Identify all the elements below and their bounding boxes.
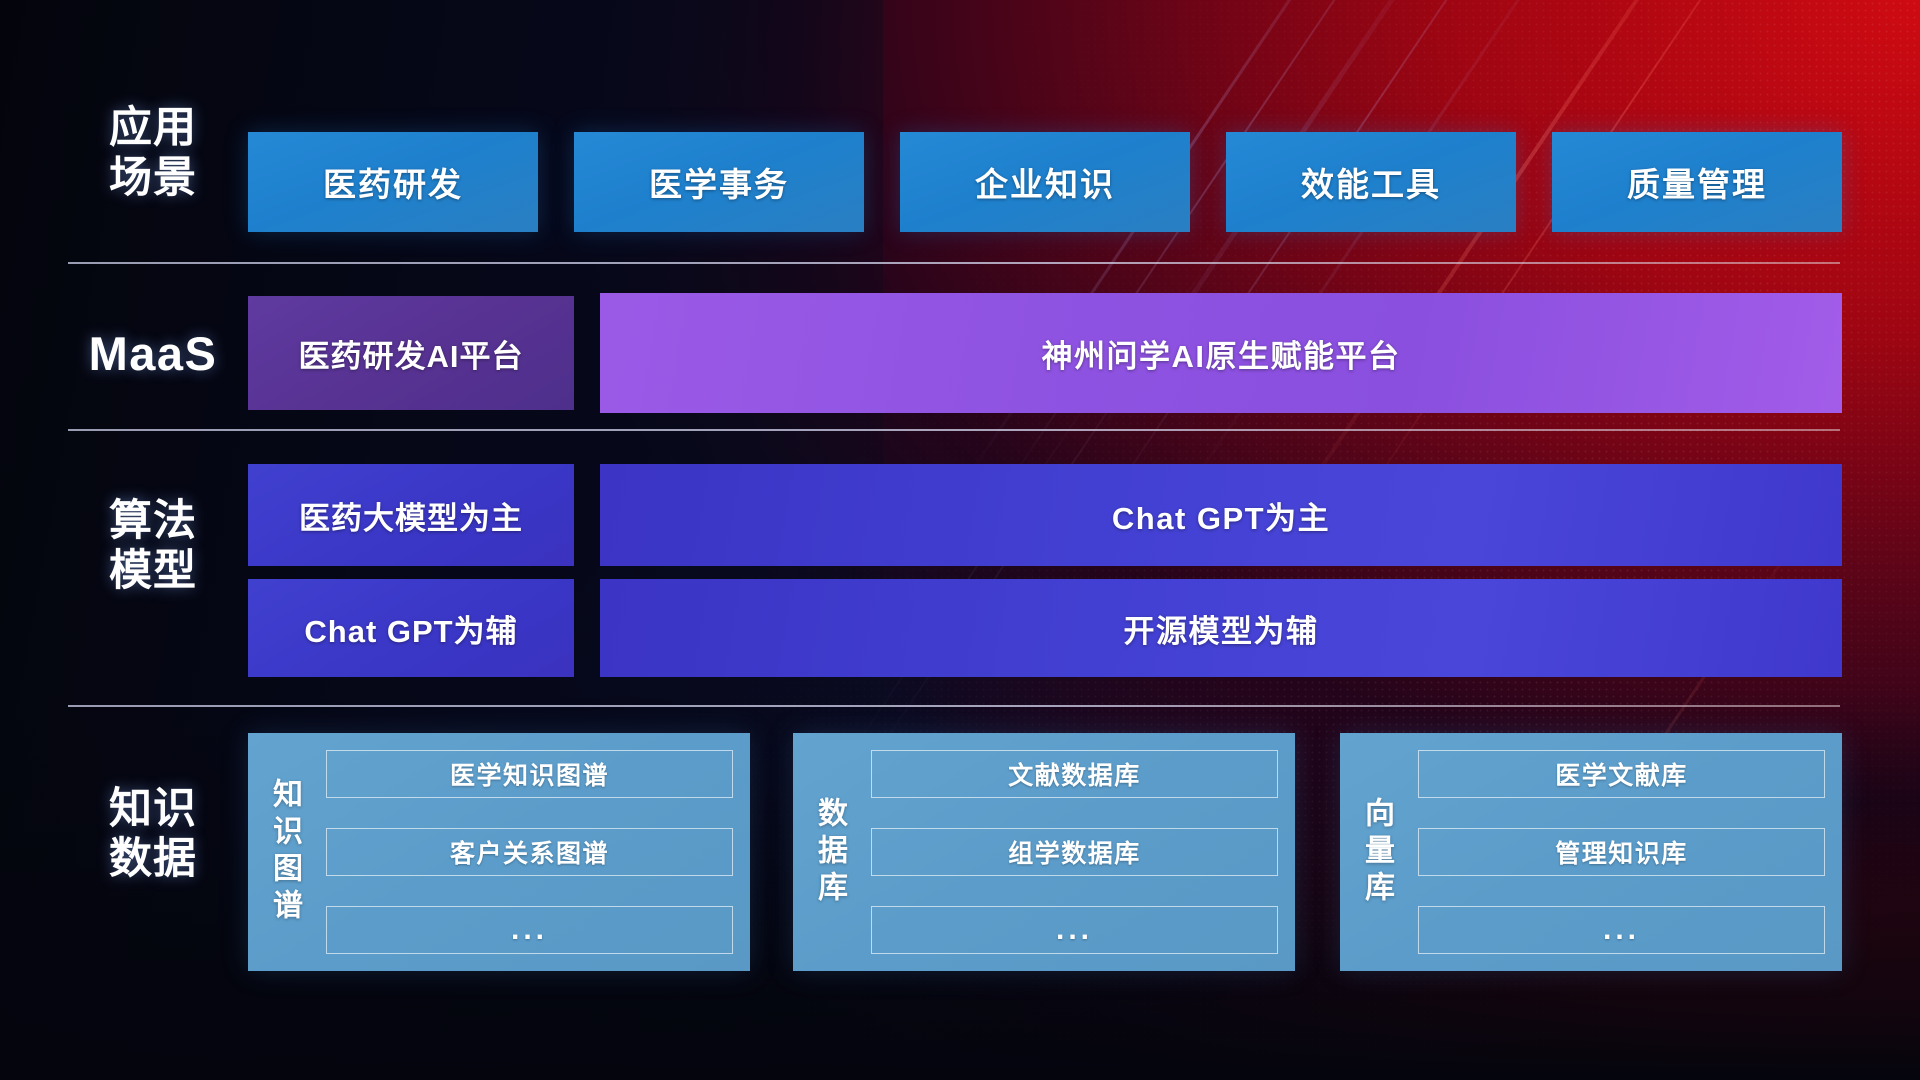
knowledge-item[interactable]: 组学数据库 — [871, 828, 1278, 876]
knowledge-card-item-list: 医学文献库 管理知识库 ... — [1412, 733, 1842, 971]
app-scenario-box-medical-affairs[interactable]: 医学事务 — [574, 132, 864, 232]
app-scenario-box-enterprise-knowledge[interactable]: 企业知识 — [900, 132, 1190, 232]
app-scenario-box-quality-management[interactable]: 质量管理 — [1552, 132, 1842, 232]
algorithm-box-pharma-llm-primary[interactable]: 医药大模型为主 — [248, 464, 574, 566]
maas-box-shenzhou-wenxue-platform[interactable]: 神州问学AI原生赋能平台 — [600, 293, 1842, 413]
divider-maas-algorithm — [68, 429, 1840, 431]
knowledge-item[interactable]: 管理知识库 — [1418, 828, 1825, 876]
algorithm-box-chatgpt-primary[interactable]: Chat GPT为主 — [600, 464, 1842, 566]
divider-application-maas — [68, 262, 1840, 264]
algorithm-box-chatgpt-secondary[interactable]: Chat GPT为辅 — [248, 579, 574, 677]
knowledge-item[interactable]: 文献数据库 — [871, 750, 1278, 798]
divider-algorithm-knowledge — [68, 705, 1840, 707]
knowledge-item-more[interactable]: ... — [326, 906, 733, 954]
algorithm-box-opensource-secondary[interactable]: 开源模型为辅 — [600, 579, 1842, 677]
row-label-application-scenarios: 应用 场景 — [68, 104, 238, 204]
architecture-diagram: 应用 场景 MaaS 算法 模型 知识 数据 医药研发 医学事务 企业知识 效能… — [0, 0, 1920, 1080]
knowledge-item[interactable]: 医学文献库 — [1418, 750, 1825, 798]
knowledge-item-more[interactable]: ... — [871, 906, 1278, 954]
knowledge-card-title: 知识图谱 — [248, 733, 320, 971]
knowledge-card-database[interactable]: 数据库 文献数据库 组学数据库 ... — [793, 733, 1295, 971]
knowledge-card-item-list: 文献数据库 组学数据库 ... — [865, 733, 1295, 971]
row-label-line: 数据 — [68, 835, 238, 885]
row-label-knowledge-data: 知识 数据 — [68, 785, 238, 885]
maas-box-drug-rd-ai-platform[interactable]: 医药研发AI平台 — [248, 296, 574, 410]
knowledge-card-item-list: 医学知识图谱 客户关系图谱 ... — [320, 733, 750, 971]
row-label-line: MaaS — [68, 327, 238, 382]
row-label-maas: MaaS — [68, 327, 238, 382]
knowledge-item[interactable]: 客户关系图谱 — [326, 828, 733, 876]
app-scenario-box-efficiency-tools[interactable]: 效能工具 — [1226, 132, 1516, 232]
knowledge-card-title: 向量库 — [1340, 733, 1412, 971]
knowledge-card-knowledge-graph[interactable]: 知识图谱 医学知识图谱 客户关系图谱 ... — [248, 733, 750, 971]
knowledge-item[interactable]: 医学知识图谱 — [326, 750, 733, 798]
row-label-line: 模型 — [68, 547, 238, 597]
row-label-line: 知识 — [68, 785, 238, 835]
knowledge-item-more[interactable]: ... — [1418, 906, 1825, 954]
knowledge-card-vector-store[interactable]: 向量库 医学文献库 管理知识库 ... — [1340, 733, 1842, 971]
row-label-line: 应用 — [68, 104, 238, 154]
row-label-algorithm-model: 算法 模型 — [68, 497, 238, 597]
app-scenario-box-drug-rd[interactable]: 医药研发 — [248, 132, 538, 232]
row-label-line: 场景 — [68, 154, 238, 204]
row-label-line: 算法 — [68, 497, 238, 547]
knowledge-card-title: 数据库 — [793, 733, 865, 971]
